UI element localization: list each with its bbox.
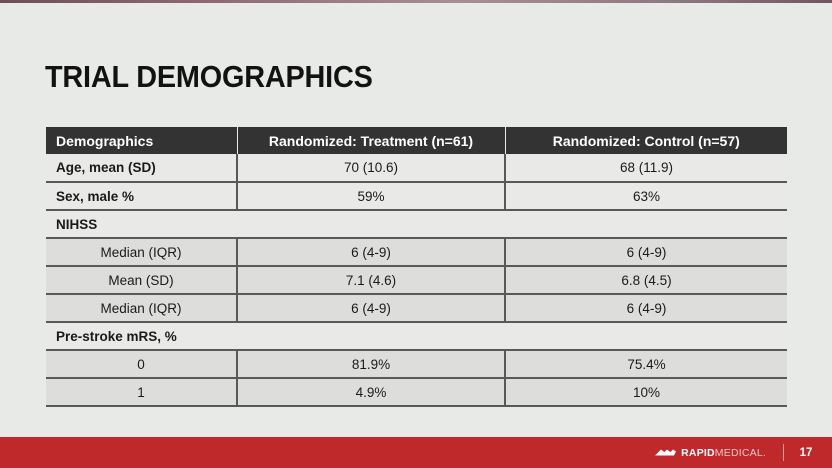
row-treatment-value: 81.9% bbox=[237, 350, 505, 378]
row-control-value: 10% bbox=[505, 378, 787, 406]
row-control-value: 6 (4-9) bbox=[505, 294, 787, 322]
row-label: 1 bbox=[46, 378, 237, 406]
footer-divider bbox=[783, 444, 784, 461]
table-row: Median (IQR) 6 (4-9) 6 (4-9) bbox=[46, 238, 787, 266]
row-treatment-value: 70 (10.6) bbox=[237, 154, 505, 182]
table-row: Sex, male % 59% 63% bbox=[46, 182, 787, 210]
row-control-value: 68 (11.9) bbox=[505, 154, 787, 182]
row-control-value: 75.4% bbox=[505, 350, 787, 378]
row-control-value: 6.8 (4.5) bbox=[505, 266, 787, 294]
row-label: Mean (SD) bbox=[46, 266, 237, 294]
footer-content: RAPID MEDICAL. 17 bbox=[654, 437, 814, 468]
table-row: 0 81.9% 75.4% bbox=[46, 350, 787, 378]
table-row: Age, mean (SD) 70 (10.6) 68 (11.9) bbox=[46, 154, 787, 182]
row-label: 0 bbox=[46, 350, 237, 378]
section-label: NIHSS bbox=[46, 210, 787, 238]
row-label: Median (IQR) bbox=[46, 294, 237, 322]
row-label: Median (IQR) bbox=[46, 238, 237, 266]
logo-text-rapid: RAPID bbox=[681, 447, 715, 459]
row-treatment-value: 6 (4-9) bbox=[237, 294, 505, 322]
slide-number: 17 bbox=[798, 447, 814, 459]
page-title: TRIAL DEMOGRAPHICS bbox=[45, 59, 373, 95]
column-header-treatment: Randomized: Treatment (n=61) bbox=[237, 127, 505, 154]
column-header-control: Randomized: Control (n=57) bbox=[505, 127, 787, 154]
footer-bar: RAPID MEDICAL. 17 bbox=[0, 437, 832, 468]
row-label: Age, mean (SD) bbox=[46, 154, 237, 182]
table-row: Mean (SD) 7.1 (4.6) 6.8 (4.5) bbox=[46, 266, 787, 294]
row-treatment-value: 7.1 (4.6) bbox=[237, 266, 505, 294]
table-header-row: Demographics Randomized: Treatment (n=61… bbox=[46, 127, 787, 154]
row-label: Sex, male % bbox=[46, 182, 237, 210]
row-control-value: 6 (4-9) bbox=[505, 238, 787, 266]
row-control-value: 63% bbox=[505, 182, 787, 210]
table-section-row: Pre-stroke mRS, % bbox=[46, 322, 787, 350]
chevron-arrow-icon bbox=[654, 447, 676, 459]
table-row: 1 4.9% 10% bbox=[46, 378, 787, 406]
row-treatment-value: 59% bbox=[237, 182, 505, 210]
table-row: Median (IQR) 6 (4-9) 6 (4-9) bbox=[46, 294, 787, 322]
section-label: Pre-stroke mRS, % bbox=[46, 322, 787, 350]
logo-text-medical: MEDICAL. bbox=[715, 447, 766, 459]
table-section-row: NIHSS bbox=[46, 210, 787, 238]
row-treatment-value: 6 (4-9) bbox=[237, 238, 505, 266]
row-treatment-value: 4.9% bbox=[237, 378, 505, 406]
slide-canvas: TRIAL DEMOGRAPHICS Demographics Randomiz… bbox=[0, 3, 832, 437]
demographics-table: Demographics Randomized: Treatment (n=61… bbox=[46, 127, 787, 407]
column-header-demographics: Demographics bbox=[46, 127, 237, 154]
